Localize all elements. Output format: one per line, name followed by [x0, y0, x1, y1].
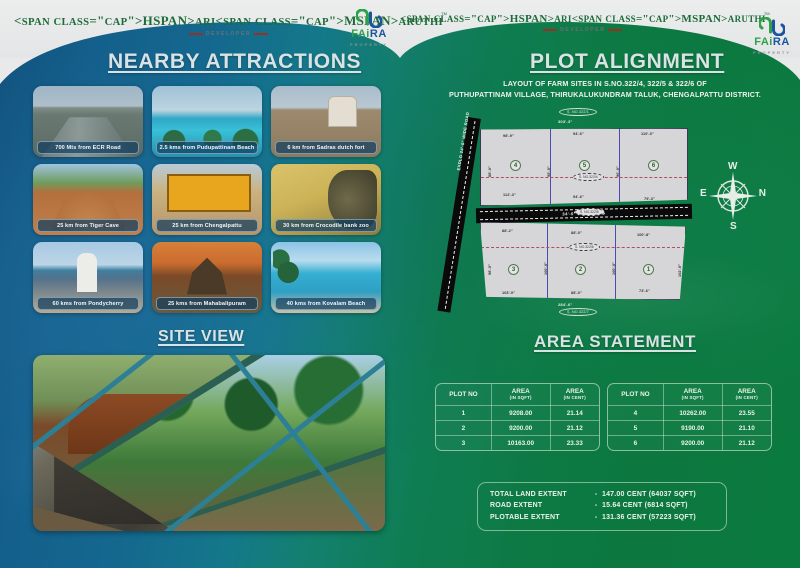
header-unit-cent: (IN CENT): [552, 395, 599, 400]
plot-2-left-dimension: 100'-0": [544, 262, 548, 275]
cell-plot-no: 2: [436, 421, 491, 436]
plot-alignment-map: S. NO.322/1 S. NO.322/7 303'-3" 284'-6" …: [462, 110, 694, 310]
cell-area-sqft: 9190.00: [663, 421, 722, 436]
attraction-card[interactable]: 2.5 kms from Pudupattinam Beach: [152, 86, 262, 157]
plot-5-top-dimension: 94'-6": [573, 132, 584, 136]
summary-dash: -: [590, 500, 602, 511]
attraction-card[interactable]: 40 kms from Kovalam Beach: [271, 242, 381, 313]
harimaruthi-tagline: DEVELOPER: [206, 31, 251, 37]
cell-plot-no: 5: [608, 421, 663, 436]
compass-label-top: W: [728, 161, 737, 172]
cell-plot-no: 4: [608, 406, 663, 421]
top-edge-total-dimension: 303'-3": [558, 119, 572, 124]
harimaruthi-wordmark: <SPAN CLASS="CAP">HSPAN>ARI<SPAN CLASS="…: [400, 14, 766, 25]
compass-rose-icon: W N S E: [700, 162, 766, 230]
faira-name-part1: FAi: [754, 36, 773, 48]
header-unit-sqft: (IN SQFT): [493, 395, 549, 400]
area-table: PLOT NO AREA (IN SQFT) AREA (IN CENT) 41…: [608, 384, 771, 450]
cell-area-cent: 21.10: [722, 421, 771, 436]
harimaruthi-logo-center: <SPAN CLASS="CAP">HSPAN>ARI<SPAN CLASS="…: [400, 14, 766, 33]
faira-logo-right: FAiRA PROPERTY: [753, 17, 791, 55]
header-plot-no: PLOT NO: [436, 384, 491, 406]
area-table-body-left: 19208.0021.1429200.0021.12310163.0023.33: [436, 406, 599, 451]
plot-5-left-dimension: 95'-0": [547, 166, 551, 177]
attraction-card[interactable]: 25 km from Chengalpattu: [152, 164, 262, 235]
plot-3-bottom-dimension: 103'-0": [502, 291, 515, 295]
survey-label-bottom: S. NO.322/7: [559, 308, 597, 316]
plot-subtitle-line-1: LAYOUT OF FARM SITES IN S.NO.322/4, 322/…: [420, 78, 790, 89]
cell-plot-no: 6: [608, 436, 663, 451]
bottom-edge-total-dimension: 284'-6": [558, 302, 572, 307]
attraction-caption: 2.5 kms from Pudupattinam Beach: [156, 141, 258, 154]
compass-label-left: E: [700, 188, 707, 199]
site-view-title: SITE VIEW: [158, 328, 244, 346]
plot-4-bottom-dimension: 112'-3": [503, 193, 516, 197]
cell-plot-no: 3: [436, 436, 491, 451]
area-table: PLOT NO AREA (IN SQFT) AREA (IN CENT) 19…: [436, 384, 599, 450]
tagline-bar-right: [254, 33, 268, 35]
faira-wordmark: FAiRA: [350, 29, 388, 40]
attraction-caption: 40 kms from Kovalam Beach: [275, 297, 377, 310]
header-area-label: AREA: [684, 388, 702, 395]
site-view-collage: [33, 355, 385, 531]
table-row: 310163.0023.33: [436, 436, 599, 451]
plot-2-bottom-dimension: 88'-0": [571, 291, 582, 295]
nearby-attractions-grid: 700 Mts from ECR Road2.5 kms from Pudupa…: [33, 86, 383, 313]
harimaruthi-tagline-row: DEVELOPER: [400, 27, 766, 33]
faira-logo-center: FAiRA PROPERTY: [350, 9, 388, 47]
summary-label: ROAD EXTENT: [490, 500, 590, 511]
area-statement-table-right: PLOT NO AREA (IN SQFT) AREA (IN CENT) 41…: [607, 383, 772, 451]
header-plot-no: PLOT NO: [608, 384, 663, 406]
attraction-caption: 60 kms from Pondycherry: [37, 297, 139, 310]
header-area-sqft: AREA (IN SQFT): [663, 384, 722, 406]
summary-label: PLOTABLE EXTENT: [490, 512, 590, 523]
plot-marker-3: 3: [508, 264, 519, 275]
summary-value: 147.00 CENT (64037 SQFT): [602, 489, 696, 500]
plot-subtitle-line-2: PUTHUPATTINAM VILLAGE, THIRUKALUKUNDRAM …: [420, 89, 790, 100]
header-area-label: AREA: [566, 388, 584, 395]
compass-label-right: N: [759, 188, 766, 199]
plot-4-left-dimension: 88'-0": [488, 166, 492, 177]
attraction-caption: 25 km from Tiger Cave: [37, 219, 139, 232]
plot-1-right-dimension: 102'-0": [678, 264, 682, 277]
tagline-bar-left: [189, 33, 203, 35]
faira-name-part2: RA: [773, 36, 790, 48]
plot-marker-2: 2: [575, 264, 586, 275]
plot-6-bottom-dimension: 79'-3": [644, 197, 655, 201]
tagline-bar-right: [608, 29, 622, 31]
area-statement-title: AREA STATEMENT: [534, 332, 696, 352]
table-header-row: PLOT NO AREA (IN SQFT) AREA (IN CENT): [608, 384, 771, 406]
attraction-card[interactable]: 25 km from Tiger Cave: [33, 164, 143, 235]
summary-value: 131.36 CENT (57223 SQFT): [602, 512, 696, 523]
attraction-card[interactable]: 30 km from Crocodile bank zoo: [271, 164, 381, 235]
cell-area-cent: 21.12: [722, 436, 771, 451]
plot-6-top-dimension: 110'-0": [641, 132, 654, 136]
summary-row: ROAD EXTENT-15.64 CENT (6814 SQFT): [490, 500, 714, 511]
summary-dash: -: [590, 512, 602, 523]
faira-mark-icon: [759, 17, 785, 36]
plot-marker-4: 4: [510, 160, 521, 171]
header-area-label: AREA: [512, 388, 530, 395]
attraction-card[interactable]: 6 km from Sadras dutch fort: [271, 86, 381, 157]
cell-area-sqft: 9208.00: [491, 406, 550, 421]
faira-name-part1: FAi: [351, 28, 370, 40]
table-row: 19208.0021.14: [436, 406, 599, 421]
nearby-attractions-title: NEARBY ATTRACTIONS: [108, 50, 361, 74]
summary-row: PLOTABLE EXTENT-131.36 CENT (57223 SQFT): [490, 512, 714, 523]
cell-area-cent: 23.33: [550, 436, 599, 451]
faira-tagline: PROPERTY: [753, 50, 791, 55]
tagline-bar-left: [543, 29, 557, 31]
harimaruthi-tagline: DEVELOPER: [560, 27, 605, 33]
compass-label-bottom: S: [730, 221, 737, 232]
plot-marker-1: 1: [643, 264, 654, 275]
attraction-caption: 30 km from Crocodile bank zoo: [275, 219, 377, 232]
plot-1-bottom-dimension: 73'-6": [639, 289, 650, 293]
cell-area-sqft: 10163.00: [491, 436, 550, 451]
summary-row: TOTAL LAND EXTENT-147.00 CENT (64037 SQF…: [490, 489, 714, 500]
summary-label: TOTAL LAND EXTENT: [490, 489, 590, 500]
header-area-cent: AREA (IN CENT): [550, 384, 599, 406]
area-statement-table-left: PLOT NO AREA (IN SQFT) AREA (IN CENT) 19…: [435, 383, 600, 451]
table-row: 410262.0023.55: [608, 406, 771, 421]
plot-1-left-dimension: 100'-0": [612, 262, 616, 275]
header-area-label: AREA: [738, 388, 756, 395]
faira-name-part2: RA: [370, 28, 387, 40]
trademark-icon: TM: [764, 11, 770, 16]
attraction-card[interactable]: 700 Mts from ECR Road: [33, 86, 143, 157]
attraction-caption: 25 km from Chengalpattu: [156, 219, 258, 232]
header-unit-sqft: (IN SQFT): [665, 395, 721, 400]
cell-area-sqft: 9200.00: [663, 436, 722, 451]
survey-label-322-4: S. NO.322/4: [573, 173, 604, 181]
table-row: 29200.0021.12: [436, 421, 599, 436]
survey-label-322-6: S. NO.322/6: [569, 243, 600, 251]
attraction-caption: 700 Mts from ECR Road: [37, 141, 139, 154]
area-table-body-right: 410262.0023.5559190.0021.1069200.0021.12: [608, 406, 771, 451]
plot-alignment-title: PLOT ALIGNMENT: [530, 50, 724, 74]
table-row: 59190.0021.10: [608, 421, 771, 436]
survey-label-top: S. NO.322/1: [559, 108, 597, 116]
plot-6-left-dimension: 96'-0": [616, 166, 620, 177]
cell-area-cent: 21.12: [550, 421, 599, 436]
lower-parcel-block: 3 2 1 88'-2" 88'-0" 100'-8" 103'-0" 88'-…: [480, 222, 686, 300]
summary-dash: -: [590, 489, 602, 500]
survey-label-322-5: S. NO.322/5: [574, 208, 605, 216]
table-header-row: PLOT NO AREA (IN SQFT) AREA (IN CENT): [436, 384, 599, 406]
table-row: 69200.0021.12: [608, 436, 771, 451]
attraction-card[interactable]: 25 kms from Mahabalipuram: [152, 242, 262, 313]
attraction-caption: 6 km from Sadras dutch fort: [275, 141, 377, 154]
cell-area-sqft: 10262.00: [663, 406, 722, 421]
plot-3-left-dimension: 98'-0": [488, 264, 492, 275]
faira-wordmark: FAiRA: [753, 37, 791, 48]
header-unit-cent: (IN CENT): [724, 395, 771, 400]
cell-area-cent: 21.14: [550, 406, 599, 421]
faira-tagline: PROPERTY: [350, 42, 388, 47]
cell-area-sqft: 9200.00: [491, 421, 550, 436]
plot-alignment-subtitle: LAYOUT OF FARM SITES IN S.NO.322/4, 322/…: [420, 78, 790, 100]
plot-1-top-dimension: 100'-8": [637, 233, 650, 237]
plot-marker-6: 6: [648, 160, 659, 171]
upper-parcel-block: 4 5 6 98'-9" 94'-6" 110'-0" 112'-3" 94'-…: [480, 128, 688, 206]
brochure-page: <SPAN CLASS="CAP">HSPAN>ARI<SPAN CLASS="…: [0, 0, 800, 568]
extent-summary-box: TOTAL LAND EXTENT-147.00 CENT (64037 SQF…: [477, 482, 727, 531]
plot-5-bottom-dimension: 94'-6": [573, 195, 584, 199]
attraction-card[interactable]: 60 kms from Pondycherry: [33, 242, 143, 313]
cell-area-cent: 23.55: [722, 406, 771, 421]
cell-plot-no: 1: [436, 406, 491, 421]
summary-value: 15.64 CENT (6814 SQFT): [602, 500, 688, 511]
header-area-cent: AREA (IN CENT): [722, 384, 771, 406]
faira-mark-icon: [356, 9, 382, 28]
header-area-sqft: AREA (IN SQFT): [491, 384, 550, 406]
plot-marker-5: 5: [579, 160, 590, 171]
attraction-caption: 25 kms from Mahabalipuram: [156, 297, 258, 310]
plot-4-top-dimension: 98'-9": [503, 134, 514, 138]
plot-3-top-dimension: 88'-2": [502, 229, 513, 233]
plot-2-top-dimension: 88'-0": [571, 231, 582, 235]
